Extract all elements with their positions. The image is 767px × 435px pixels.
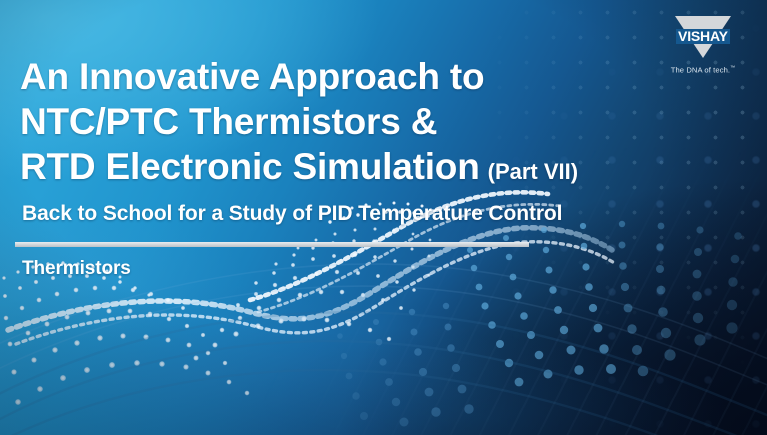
title-line-3: RTD Electronic Simulation (20, 146, 480, 187)
part-label: (Part VII) (480, 159, 578, 184)
title-divider (15, 242, 529, 247)
vishay-triangle-icon: VISHAY (675, 16, 731, 58)
title-line-2: NTC/PTC Thermistors & (20, 99, 720, 144)
logo-wordmark-band: VISHAY (676, 29, 730, 44)
title-line-1: An Innovative Approach to (20, 54, 720, 99)
logo-wordmark: VISHAY (678, 30, 728, 44)
trademark-symbol: ™ (730, 65, 735, 71)
section-label: Thermistors (22, 257, 720, 281)
title-line-3-row: RTD Electronic Simulation(Part VII) (20, 144, 720, 194)
slide-subtitle: Back to School for a Study of PID Temper… (22, 200, 720, 228)
title-block: An Innovative Approach to NTC/PTC Thermi… (20, 54, 720, 281)
presentation-title-slide: VISHAY The DNA of tech.™ An Innovative A… (0, 0, 767, 435)
